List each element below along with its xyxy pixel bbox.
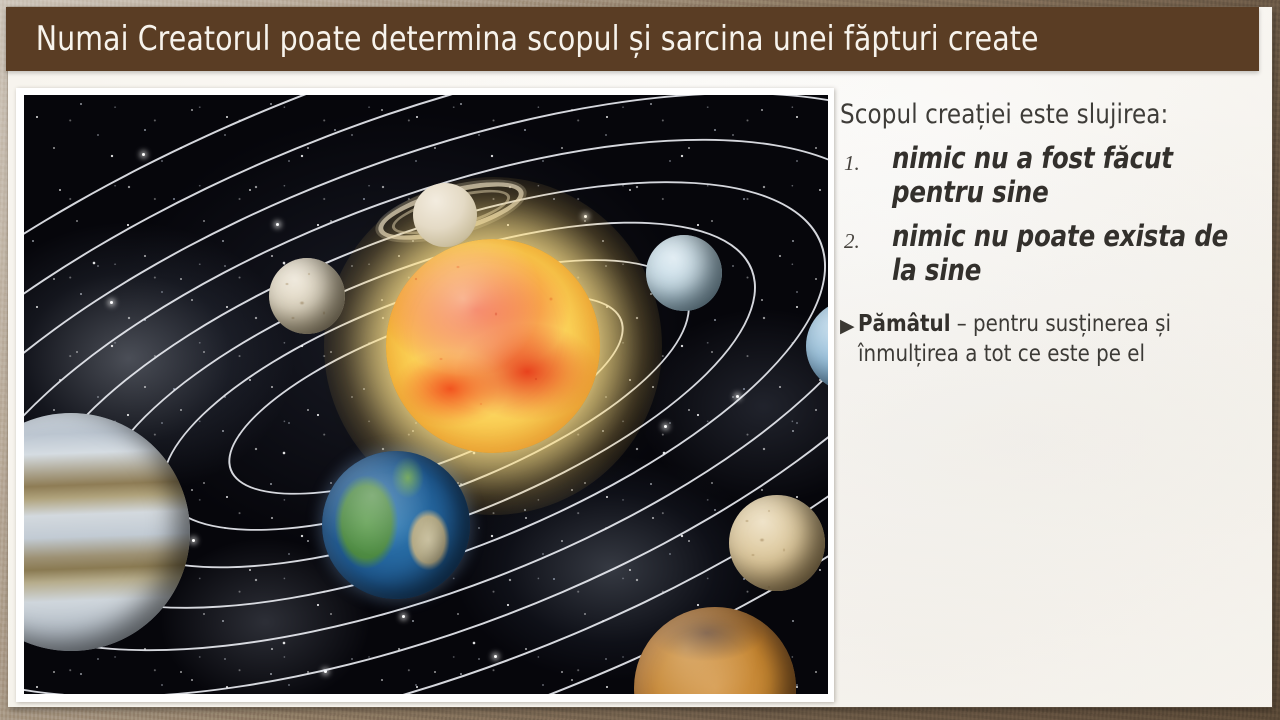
content-text-panel: Scopul creației este slujirea: 1. nimic … xyxy=(840,99,1264,699)
planet-earth xyxy=(322,451,470,599)
triangle-right-icon: ▶ xyxy=(840,310,855,336)
slide-page: Scopul creației este slujirea: 1. nimic … xyxy=(8,7,1272,707)
list-item-text: nimic nu poate exista de la sine xyxy=(892,220,1242,288)
list-item-text: nimic nu a fost făcut pentru sine xyxy=(892,142,1242,210)
sun xyxy=(386,239,600,453)
solar-system-image xyxy=(24,95,828,694)
list-item-number: 1. xyxy=(840,142,892,176)
bullet-item: ▶ Pămâtul – pentru susținerea și înmulți… xyxy=(840,310,1264,370)
list-item-number: 2. xyxy=(840,220,892,254)
lead-line: Scopul creației este slujirea: xyxy=(840,99,1243,130)
planet-surface-texture xyxy=(269,258,345,334)
sun-surface-texture xyxy=(386,239,600,453)
bullet-item-lead-word: Pămâtul xyxy=(858,311,951,337)
planet-saturn xyxy=(413,183,477,247)
page-title: Numai Creatorul poate determina scopul ș… xyxy=(6,19,1039,59)
list-item: 2. nimic nu poate exista de la sine xyxy=(840,220,1264,288)
sun-body xyxy=(386,239,600,453)
planet-venus xyxy=(729,495,825,591)
slide-title-bar: Numai Creatorul poate determina scopul ș… xyxy=(6,7,1259,71)
slide-outer-frame: Scopul creației este slujirea: 1. nimic … xyxy=(0,0,1280,720)
bullet-item-text: Pămâtul – pentru susținerea și înmulțire… xyxy=(858,310,1248,370)
list-item: 1. nimic nu a fost făcut pentru sine xyxy=(840,142,1264,210)
solar-system-picture-frame xyxy=(16,88,834,702)
planet-uranus xyxy=(646,235,722,311)
planet-mercury xyxy=(269,258,345,334)
planet-surface-texture xyxy=(729,495,825,591)
